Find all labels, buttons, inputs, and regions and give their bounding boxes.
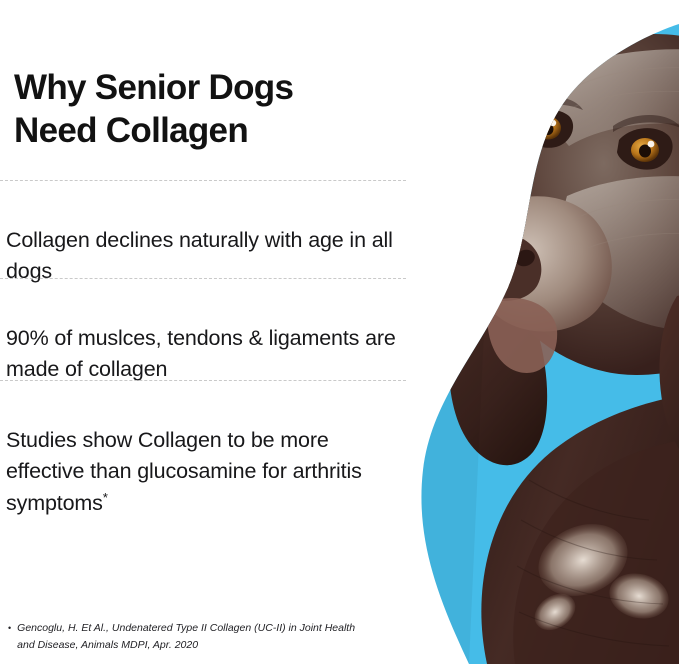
fact-studies-glucosamine-text: Studies show Collagen to be more effecti… — [6, 428, 362, 516]
page-title: Why Senior Dogs Need Collagen — [14, 67, 394, 152]
footnote-marker: * — [103, 490, 108, 505]
footnote-citation-text: Gencoglu, H. Et Al., Undenatered Type II… — [17, 620, 368, 655]
bullet-icon: • — [8, 620, 11, 637]
senior-dog-photo — [419, 0, 679, 664]
divider-2 — [0, 278, 406, 279]
fact-studies-glucosamine: Studies show Collagen to be more effecti… — [6, 425, 406, 520]
divider-1 — [0, 180, 406, 181]
fact-90-percent: 90% of muslces, tendons & ligaments are … — [6, 323, 406, 387]
divider-3 — [0, 380, 406, 381]
text-column: Why Senior Dogs Need Collagen Collagen d… — [0, 0, 420, 664]
footnote-citation: • Gencoglu, H. Et Al., Undenatered Type … — [8, 620, 368, 655]
infographic-card: Why Senior Dogs Need Collagen Collagen d… — [0, 0, 679, 664]
